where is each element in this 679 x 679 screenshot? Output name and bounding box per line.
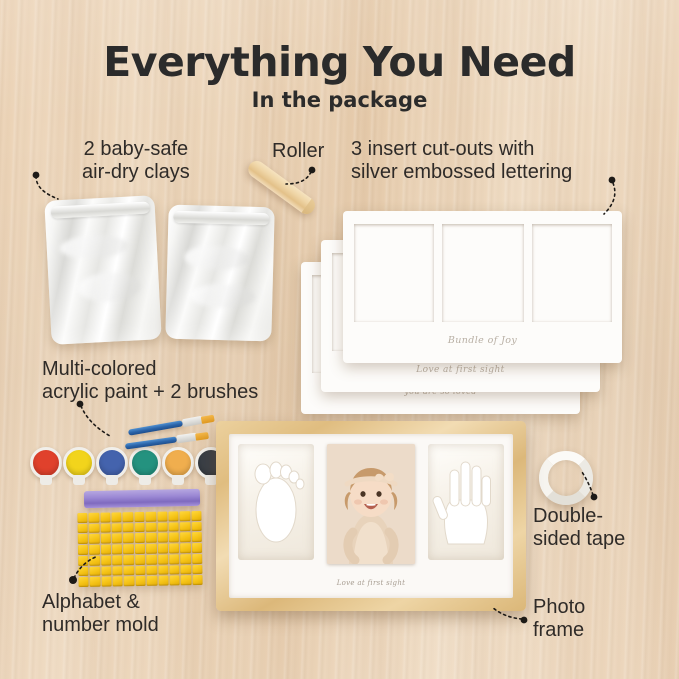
mold-tile bbox=[89, 523, 100, 533]
mold-tile bbox=[192, 543, 203, 553]
mold-tile bbox=[101, 577, 112, 587]
mold-tile bbox=[112, 523, 123, 533]
pot-tab bbox=[139, 475, 151, 485]
pot-tab bbox=[172, 475, 184, 485]
mold-tile bbox=[157, 512, 168, 522]
brush-tip bbox=[201, 414, 215, 423]
mold-tile bbox=[90, 577, 101, 587]
mold-tile bbox=[191, 532, 202, 542]
mat-window-center bbox=[442, 224, 524, 322]
mold-tile bbox=[146, 544, 157, 554]
double-sided-tape-roll bbox=[539, 451, 593, 505]
brush-ferrule bbox=[182, 416, 203, 427]
mold-tile bbox=[112, 544, 123, 554]
paint-pot-red bbox=[30, 447, 62, 479]
mold-tile bbox=[146, 522, 157, 532]
mold-tile bbox=[180, 543, 191, 553]
insert-lettering-1: Bundle of Joy bbox=[343, 335, 622, 346]
mold-tile bbox=[180, 511, 191, 521]
pot-tab bbox=[73, 475, 85, 485]
paint-pot-orange bbox=[162, 447, 194, 479]
mold-tile bbox=[124, 576, 135, 586]
mold-tile bbox=[191, 511, 202, 521]
mold-tile bbox=[192, 554, 203, 564]
mold-tile bbox=[111, 512, 122, 522]
mold-tile bbox=[158, 565, 169, 575]
handprint-cast bbox=[428, 444, 504, 560]
leader-path-clay bbox=[36, 176, 58, 199]
mold-tile bbox=[146, 533, 157, 543]
leader-dot-photo bbox=[521, 617, 528, 624]
pot-tab bbox=[106, 475, 118, 485]
footprint-icon bbox=[238, 444, 314, 560]
mold-tile bbox=[78, 524, 89, 534]
page-title: Everything You Need bbox=[0, 38, 679, 86]
callout-label-paint: Multi-colored acrylic paint + 2 brushes bbox=[42, 358, 258, 404]
frame-caption: Love at first sight bbox=[229, 579, 513, 587]
leader-dot-tape bbox=[591, 494, 598, 501]
brush-ferrule bbox=[176, 433, 197, 444]
mold-tile bbox=[180, 533, 191, 543]
insert-cutout-1: Bundle of Joy bbox=[343, 211, 622, 363]
paint-pot-teal bbox=[129, 447, 161, 479]
paint-pot-blue bbox=[96, 447, 128, 479]
mold-tile bbox=[135, 544, 146, 554]
clay-crease bbox=[77, 271, 142, 303]
mold-tile bbox=[78, 566, 89, 576]
mold-tile bbox=[77, 513, 88, 523]
mold-tile bbox=[89, 513, 100, 523]
mold-tile bbox=[157, 522, 168, 532]
mold-tile bbox=[169, 565, 180, 575]
leader-dot-alpha bbox=[69, 576, 77, 584]
frame-mount: Love at first sight bbox=[229, 434, 513, 598]
mold-tile bbox=[100, 523, 111, 533]
leader-dot-roller bbox=[309, 167, 316, 174]
clay-packet-2 bbox=[165, 205, 274, 342]
mold-tile bbox=[89, 534, 100, 544]
mold-tile bbox=[78, 545, 89, 555]
mold-tile bbox=[146, 565, 157, 575]
mold-tile bbox=[101, 545, 112, 555]
leader-path-paint bbox=[81, 406, 110, 436]
mold-tile bbox=[123, 512, 134, 522]
callout-label-inserts: 3 insert cut-outs with silver embossed l… bbox=[351, 138, 572, 184]
mold-tile bbox=[135, 533, 146, 543]
mold-tile bbox=[169, 543, 180, 553]
mold-tile bbox=[78, 556, 89, 566]
mold-tile bbox=[135, 576, 146, 586]
mold-tile bbox=[112, 566, 123, 576]
mold-tile bbox=[181, 575, 192, 585]
leader-path-inserts bbox=[604, 183, 615, 214]
mold-tile bbox=[112, 534, 123, 544]
mold-tile bbox=[147, 576, 158, 586]
mold-tile bbox=[89, 545, 100, 555]
mold-tile bbox=[78, 534, 89, 544]
mold-tile bbox=[101, 555, 112, 565]
mold-tile bbox=[157, 544, 168, 554]
clay-packet-1 bbox=[44, 195, 161, 345]
callout-label-alphabet-mold: Alphabet & number mold bbox=[42, 591, 159, 637]
mold-tile bbox=[112, 555, 123, 565]
callout-label-clay: 2 baby-safe air-dry clays bbox=[82, 138, 190, 184]
mold-tile bbox=[146, 555, 157, 565]
clay-crease bbox=[184, 245, 248, 271]
brush-tip bbox=[195, 431, 209, 440]
callout-label-photo-frame: Photo frame bbox=[533, 596, 585, 642]
mold-tile bbox=[100, 513, 111, 523]
clay-seam bbox=[174, 211, 270, 225]
mold-tile bbox=[169, 533, 180, 543]
mold-tile bbox=[146, 512, 157, 522]
callout-label-tape: Double- sided tape bbox=[533, 505, 625, 551]
mold-tile bbox=[134, 523, 145, 533]
mat-window-right bbox=[532, 224, 612, 322]
clay-crease bbox=[59, 234, 128, 261]
mold-tile bbox=[158, 554, 169, 564]
mold-press-bar bbox=[84, 489, 200, 508]
mold-tile bbox=[100, 534, 111, 544]
photo-frame: Love at first sight bbox=[216, 421, 526, 611]
clay-seam bbox=[50, 201, 149, 218]
mold-tile bbox=[191, 522, 202, 532]
mold-tile bbox=[192, 564, 203, 574]
mold-tile bbox=[135, 565, 146, 575]
baby-photo bbox=[327, 444, 415, 564]
mold-tile bbox=[78, 577, 89, 587]
mold-tile bbox=[192, 575, 203, 585]
mold-tile bbox=[158, 576, 169, 586]
handprint-icon bbox=[428, 444, 504, 560]
baby-photo-illustration bbox=[327, 444, 415, 564]
mold-tile bbox=[135, 555, 146, 565]
mold-tile bbox=[169, 554, 180, 564]
mold-tile bbox=[168, 522, 179, 532]
mold-tile bbox=[123, 544, 134, 554]
infographic-canvas: Everything You Need In the package you a… bbox=[0, 0, 679, 679]
callout-label-roller: Roller bbox=[272, 140, 324, 163]
leader-dot-clay bbox=[33, 172, 40, 179]
paint-pot-yellow bbox=[63, 447, 95, 479]
insert-lettering-2: Love at first sight bbox=[321, 365, 600, 375]
mold-tile bbox=[89, 556, 100, 566]
mat-window-left bbox=[354, 224, 434, 322]
mold-tile bbox=[168, 511, 179, 521]
pot-tab bbox=[40, 475, 52, 485]
clay-crease bbox=[189, 283, 255, 309]
leader-dot-inserts bbox=[609, 177, 616, 184]
footprint-cast bbox=[238, 444, 314, 560]
alphabet-number-mold-grid bbox=[77, 511, 202, 587]
mold-tile bbox=[123, 523, 134, 533]
paint-brush-1 bbox=[128, 420, 183, 435]
mold-tile bbox=[180, 554, 191, 564]
mold-tile bbox=[180, 522, 191, 532]
mold-tile bbox=[157, 533, 168, 543]
mold-tile bbox=[113, 577, 124, 587]
mold-tile bbox=[134, 512, 145, 522]
mold-tile bbox=[124, 566, 135, 576]
mold-tile bbox=[101, 566, 112, 576]
mold-tile bbox=[124, 555, 135, 565]
page-subtitle: In the package bbox=[0, 88, 679, 112]
mold-tile bbox=[181, 565, 192, 575]
mold-tile bbox=[169, 576, 180, 586]
mold-tile bbox=[90, 566, 101, 576]
mold-tile bbox=[123, 534, 134, 544]
